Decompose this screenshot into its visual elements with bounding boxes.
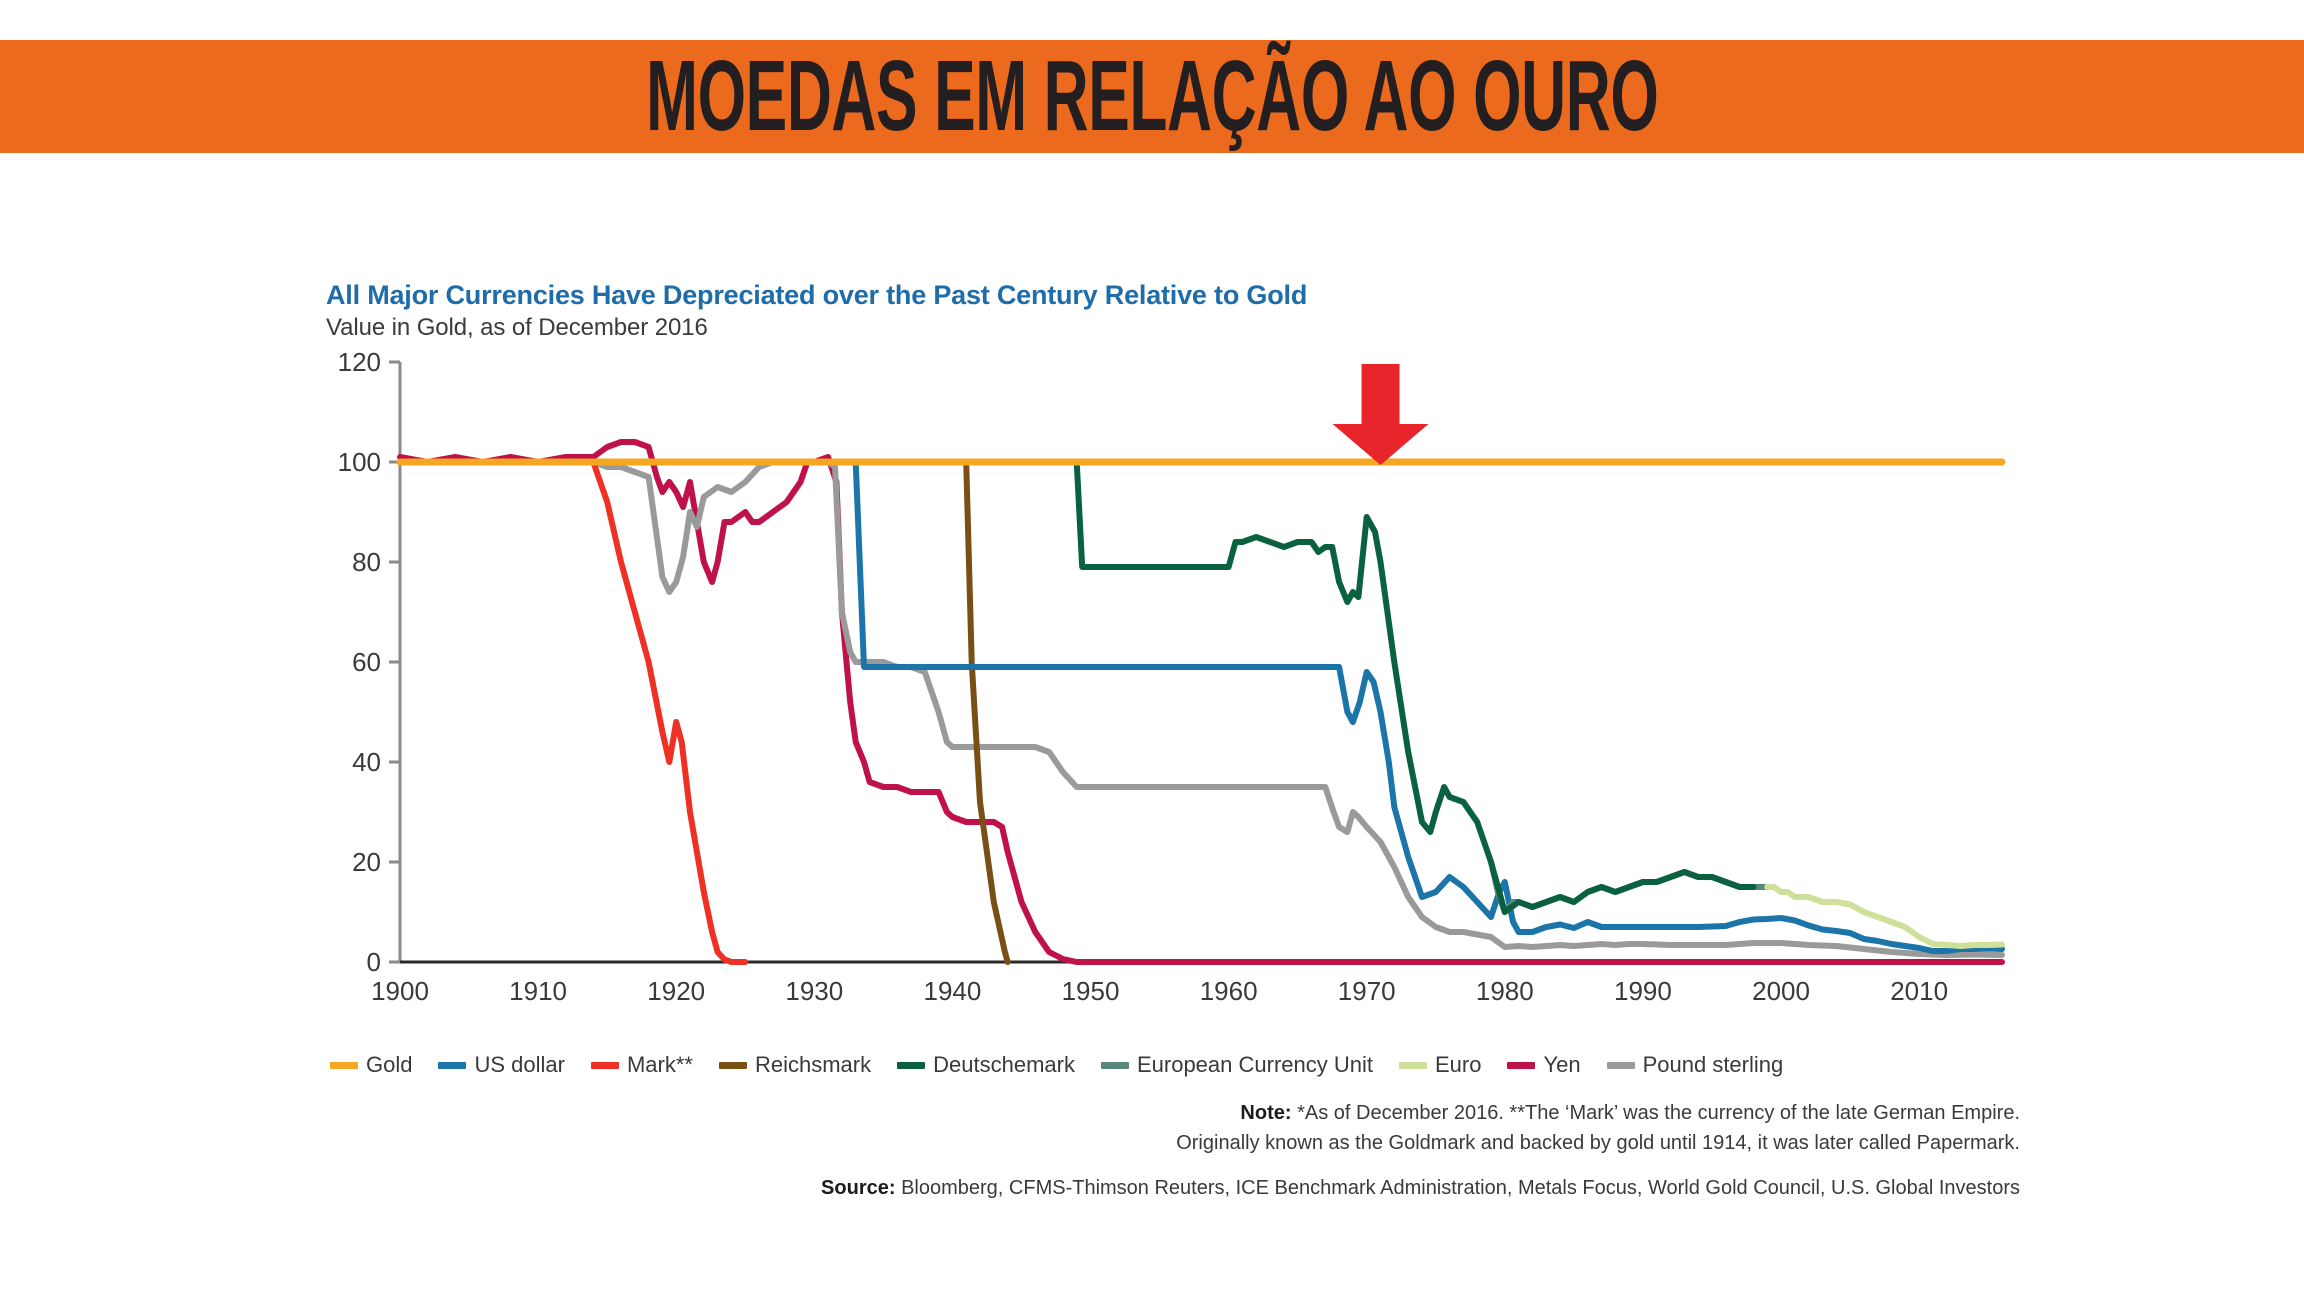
- x-axis: 1900191019201930194019501960197019801990…: [371, 962, 2002, 1006]
- series-line-reichsmark: [731, 462, 1007, 962]
- x-axis-tick-label: 1970: [1338, 976, 1396, 1006]
- legend-label: Gold: [366, 1052, 412, 1078]
- line-chart-svg: 020406080100120 190019101920193019401950…: [322, 348, 2022, 1020]
- legend-item-reichsmark[interactable]: Reichsmark: [719, 1052, 871, 1078]
- arrow-annotation: [1333, 364, 1429, 465]
- x-axis-tick-label: 1940: [923, 976, 981, 1006]
- legend-item-yen[interactable]: Yen: [1507, 1052, 1580, 1078]
- note-line-2: Originally known as the Goldmark and bac…: [322, 1128, 2020, 1158]
- x-axis-tick-label: 1930: [785, 976, 843, 1006]
- x-axis-tick-label: 1950: [1062, 976, 1120, 1006]
- page-title: MOEDAS EM RELAÇÃO AO OURO: [646, 39, 1658, 154]
- series-line-us-dollar: [400, 462, 2002, 951]
- series-line-mark: [400, 462, 745, 962]
- x-axis-tick-label: 1980: [1476, 976, 1534, 1006]
- series-line-pound-sterling: [400, 462, 2002, 955]
- legend-swatch-icon: [1507, 1062, 1535, 1069]
- y-axis: 020406080100120: [338, 348, 400, 977]
- x-axis-tick-label: 1990: [1614, 976, 1672, 1006]
- y-axis-tick-label: 60: [352, 647, 381, 677]
- y-axis-tick-label: 80: [352, 547, 381, 577]
- source-line: Source: Bloomberg, CFMS-Thimson Reuters,…: [322, 1173, 2020, 1203]
- x-axis-tick-label: 1900: [371, 976, 429, 1006]
- source-text: Bloomberg, CFMS-Thimson Reuters, ICE Ben…: [901, 1177, 2020, 1199]
- legend-item-pound-sterling[interactable]: Pound sterling: [1607, 1052, 1784, 1078]
- chart-figure: All Major Currencies Have Depreciated ov…: [322, 280, 2022, 1240]
- x-axis-tick-label: 1960: [1200, 976, 1258, 1006]
- legend-label: Mark**: [627, 1052, 693, 1078]
- legend-label: Yen: [1543, 1052, 1580, 1078]
- legend-swatch-icon: [1399, 1062, 1427, 1069]
- legend-swatch-icon: [719, 1062, 747, 1069]
- legend-label: Deutschemark: [933, 1052, 1075, 1078]
- chart-legend: GoldUS dollarMark**ReichsmarkDeutschemar…: [330, 1052, 2020, 1078]
- legend-label: Pound sterling: [1643, 1052, 1784, 1078]
- x-axis-tick-label: 1910: [509, 976, 567, 1006]
- note-text-1: *As of December 2016. **The ‘Mark’ was t…: [1297, 1102, 2020, 1124]
- legend-label: Euro: [1435, 1052, 1481, 1078]
- x-axis-tick-label: 1920: [647, 976, 705, 1006]
- x-axis-tick-label: 2010: [1890, 976, 1948, 1006]
- red-down-arrow-icon: [1333, 364, 1429, 465]
- legend-item-gold[interactable]: Gold: [330, 1052, 412, 1078]
- note-label: Note:: [1240, 1102, 1291, 1124]
- legend-label: Reichsmark: [755, 1052, 871, 1078]
- title-banner: MOEDAS EM RELAÇÃO AO OURO: [0, 40, 2304, 153]
- series-line-euro: [1767, 887, 2002, 946]
- y-axis-tick-label: 40: [352, 747, 381, 777]
- y-axis-tick-label: 0: [367, 947, 381, 977]
- series-line-deutschemark: [1063, 462, 1754, 912]
- legend-label: US dollar: [474, 1052, 564, 1078]
- plot-area: 020406080100120 190019101920193019401950…: [322, 348, 2022, 1020]
- legend-swatch-icon: [1101, 1062, 1129, 1069]
- legend-swatch-icon: [330, 1062, 358, 1069]
- legend-item-euro[interactable]: Euro: [1399, 1052, 1481, 1078]
- legend-item-us-dollar[interactable]: US dollar: [438, 1052, 564, 1078]
- note-line-1: Note: *As of December 2016. **The ‘Mark’…: [322, 1098, 2020, 1128]
- legend-swatch-icon: [1607, 1062, 1635, 1069]
- chart-subtitle: Value in Gold, as of December 2016: [326, 314, 708, 342]
- source-label: Source:: [821, 1177, 895, 1199]
- legend-swatch-icon: [591, 1062, 619, 1069]
- legend-label: European Currency Unit: [1137, 1052, 1373, 1078]
- legend-swatch-icon: [438, 1062, 466, 1069]
- legend-item-mark[interactable]: Mark**: [591, 1052, 693, 1078]
- x-axis-tick-label: 2000: [1752, 976, 1810, 1006]
- legend-item-european-currency-unit[interactable]: European Currency Unit: [1101, 1052, 1373, 1078]
- y-axis-tick-label: 100: [338, 447, 381, 477]
- y-axis-tick-label: 20: [352, 847, 381, 877]
- chart-title: All Major Currencies Have Depreciated ov…: [326, 280, 1307, 311]
- y-axis-tick-label: 120: [338, 348, 381, 377]
- legend-item-deutschemark[interactable]: Deutschemark: [897, 1052, 1075, 1078]
- chart-series: [400, 442, 2002, 962]
- infographic-page: MOEDAS EM RELAÇÃO AO OURO All Major Curr…: [0, 0, 2304, 1296]
- legend-swatch-icon: [897, 1062, 925, 1069]
- chart-footnotes: Note: *As of December 2016. **The ‘Mark’…: [322, 1098, 2020, 1203]
